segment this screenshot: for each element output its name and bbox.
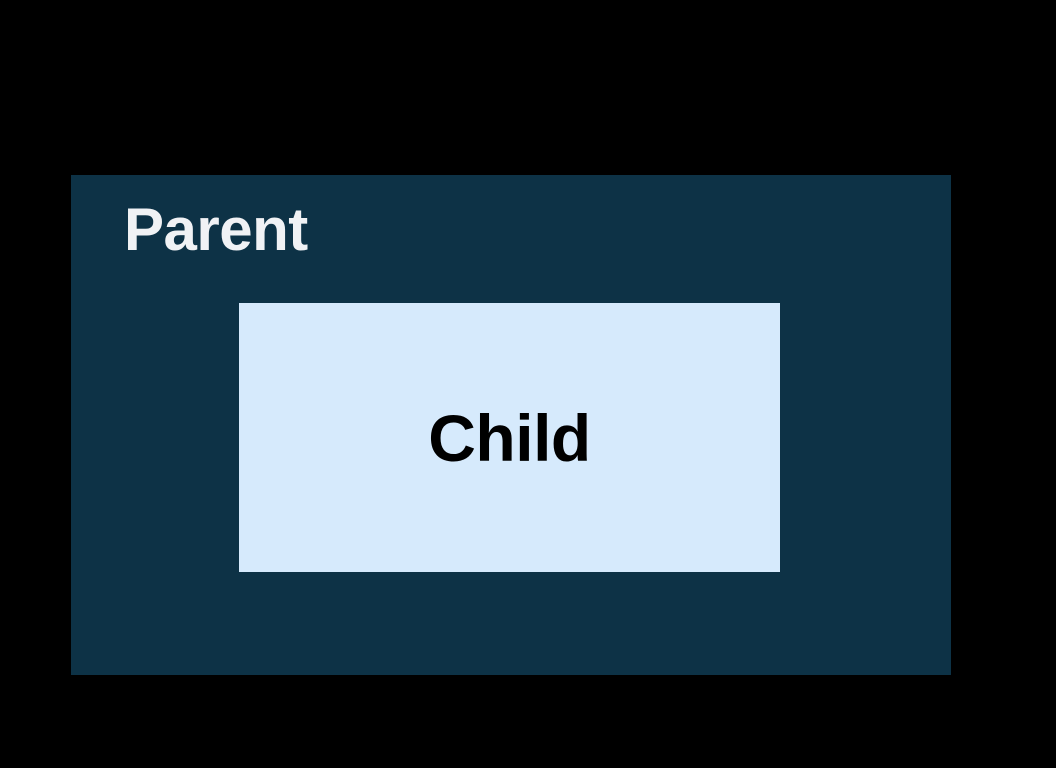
parent-box[interactable]: Parent Child [71, 175, 951, 675]
child-box-label: Child [428, 405, 590, 471]
diagram-canvas: Parent Child [0, 0, 1056, 768]
child-box[interactable]: Child [239, 303, 780, 572]
parent-box-label: Parent [124, 200, 308, 260]
